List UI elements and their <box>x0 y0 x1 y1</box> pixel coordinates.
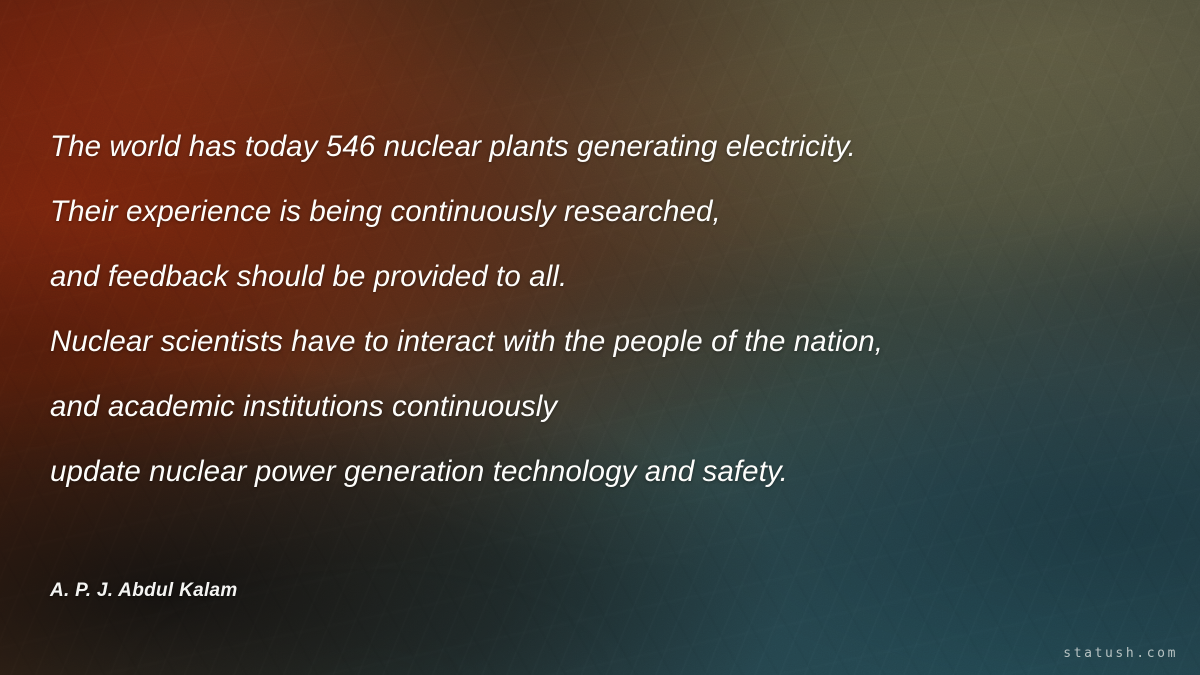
content-layer: The world has today 546 nuclear plants g… <box>0 0 1200 675</box>
quote-line: and academic institutions continuously <box>50 374 1160 439</box>
quote-line: and feedback should be provided to all. <box>50 244 1160 309</box>
site-watermark: statush.com <box>1063 646 1178 661</box>
quote-text-block: The world has today 546 nuclear plants g… <box>50 114 1160 504</box>
quote-line: Their experience is being continuously r… <box>50 179 1160 244</box>
quote-line: Nuclear scientists have to interact with… <box>50 309 1160 374</box>
quote-image-canvas: The world has today 546 nuclear plants g… <box>0 0 1200 675</box>
quote-line: update nuclear power generation technolo… <box>50 439 1160 504</box>
quote-author: A. P. J. Abdul Kalam <box>50 580 238 602</box>
quote-line: The world has today 546 nuclear plants g… <box>50 114 1160 179</box>
